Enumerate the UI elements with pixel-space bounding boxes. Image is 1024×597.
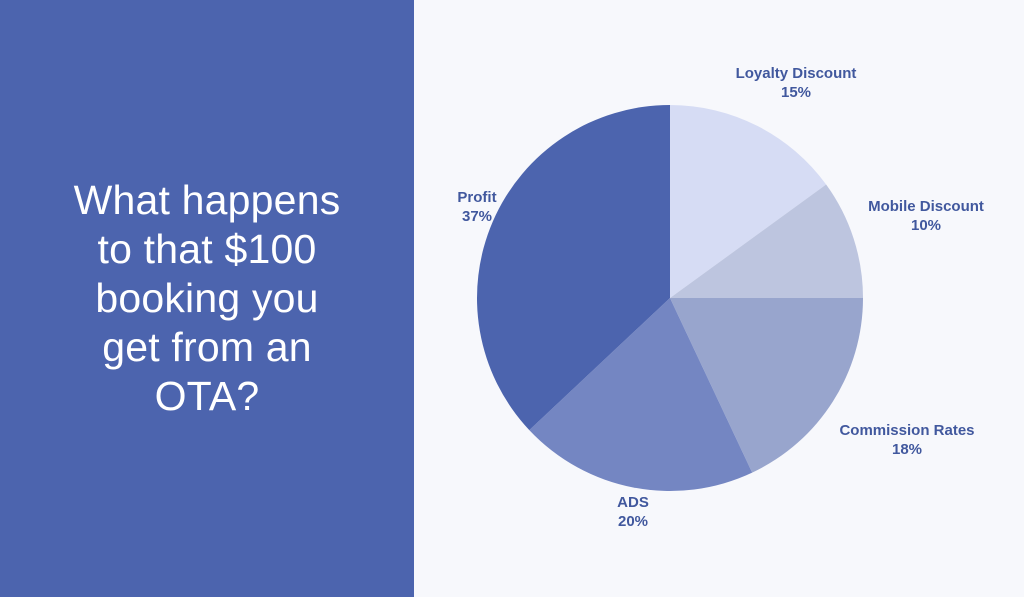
pie-label-ads-name: ADS: [576, 493, 690, 512]
pie-label-commission-rates: Commission Rates 18%: [814, 421, 1000, 459]
pie-label-loyalty-discount-name: Loyalty Discount: [708, 64, 884, 83]
pie-label-loyalty-discount: Loyalty Discount 15%: [708, 64, 884, 102]
pie-chart: Loyalty Discount 15% Mobile Discount 10%…: [414, 0, 1024, 597]
pie-label-profit-name: Profit: [419, 188, 535, 207]
pie-slice-group: [477, 105, 863, 491]
slide-canvas: What happens to that $100 booking you ge…: [0, 0, 1024, 597]
pie-label-mobile-discount: Mobile Discount 10%: [844, 197, 1008, 235]
pie-label-profit-value: 37%: [419, 207, 535, 226]
pie-label-mobile-discount-name: Mobile Discount: [844, 197, 1008, 216]
pie-label-ads: ADS 20%: [576, 493, 690, 531]
headline-panel: What happens to that $100 booking you ge…: [0, 0, 414, 597]
page-title: What happens to that $100 booking you ge…: [42, 176, 372, 421]
chart-panel: Loyalty Discount 15% Mobile Discount 10%…: [414, 0, 1024, 597]
pie-label-profit: Profit 37%: [419, 188, 535, 226]
pie-label-loyalty-discount-value: 15%: [708, 83, 884, 102]
pie-label-commission-rates-name: Commission Rates: [814, 421, 1000, 440]
pie-label-ads-value: 20%: [576, 512, 690, 531]
pie-label-mobile-discount-value: 10%: [844, 216, 1008, 235]
pie-label-commission-rates-value: 18%: [814, 440, 1000, 459]
